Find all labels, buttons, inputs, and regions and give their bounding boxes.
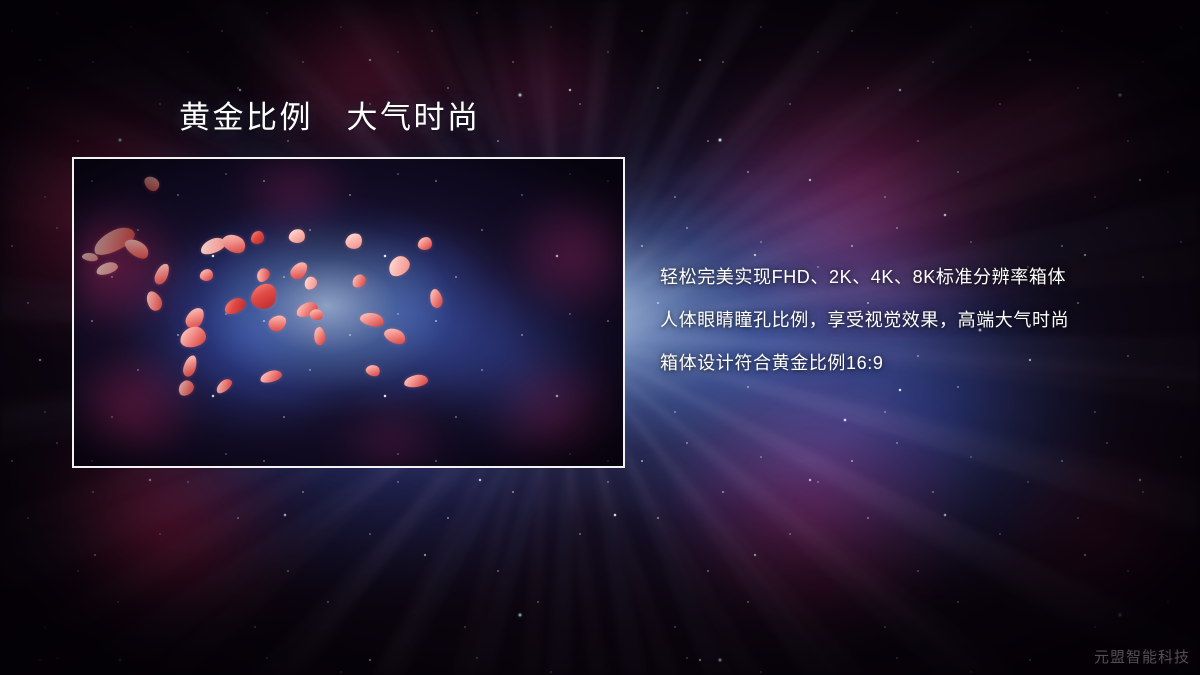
framed-photo <box>72 157 625 468</box>
slide-canvas: 黄金比例 大气时尚 <box>0 0 1200 675</box>
photo-vignette <box>74 159 623 466</box>
watermark: 元盟智能科技 <box>1094 646 1190 667</box>
description-block: 轻松完美实现FHD、2K、4K、8K标准分辨率箱体 人体眼睛瞳孔比例，享受视觉效… <box>660 256 1180 385</box>
description-line-2: 人体眼睛瞳孔比例，享受视觉效果，高端大气时尚 <box>660 299 1180 342</box>
description-line-1: 轻松完美实现FHD、2K、4K、8K标准分辨率箱体 <box>660 256 1180 299</box>
description-line-3: 箱体设计符合黄金比例16:9 <box>660 342 1180 385</box>
page-title: 黄金比例 大气时尚 <box>179 100 481 136</box>
